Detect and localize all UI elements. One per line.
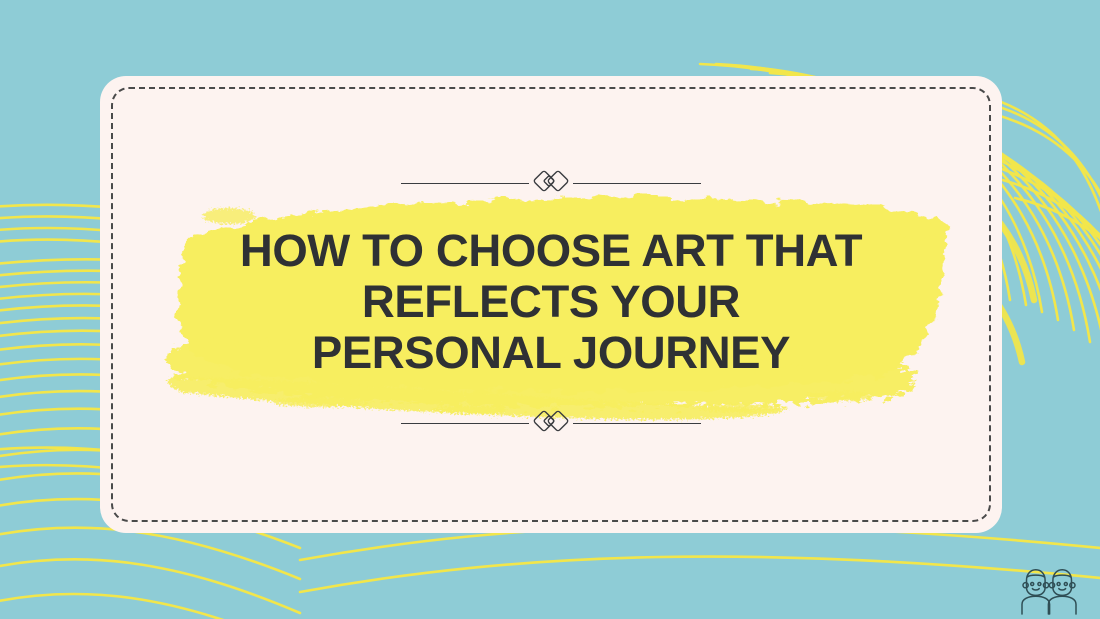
interlocking-diamonds-icon — [531, 406, 571, 442]
title-line-3: PERSONAL JOURNEY — [175, 327, 927, 378]
title-card: HOW TO CHOOSE ART THAT REFLECTS YOUR PER… — [100, 76, 1002, 533]
slide-canvas: HOW TO CHOOSE ART THAT REFLECTS YOUR PER… — [0, 0, 1100, 619]
title-block: HOW TO CHOOSE ART THAT REFLECTS YOUR PER… — [100, 76, 1002, 533]
page-title: HOW TO CHOOSE ART THAT REFLECTS YOUR PER… — [171, 224, 931, 378]
divider-bottom — [401, 404, 701, 444]
interlocking-diamonds-icon — [531, 166, 571, 202]
waves-bottom-right — [300, 526, 1100, 592]
title-line-2: REFLECTS YOUR — [175, 276, 927, 327]
title-line-1: HOW TO CHOOSE ART THAT — [175, 224, 927, 275]
divider-rule-left — [401, 183, 529, 184]
divider-rule-right — [573, 423, 701, 424]
divider-top — [401, 164, 701, 204]
divider-rule-left — [401, 423, 529, 424]
divider-rule-right — [573, 183, 701, 184]
two-people-avatar-icon — [1016, 563, 1082, 615]
brush-and-title: HOW TO CHOOSE ART THAT REFLECTS YOUR PER… — [171, 152, 931, 452]
